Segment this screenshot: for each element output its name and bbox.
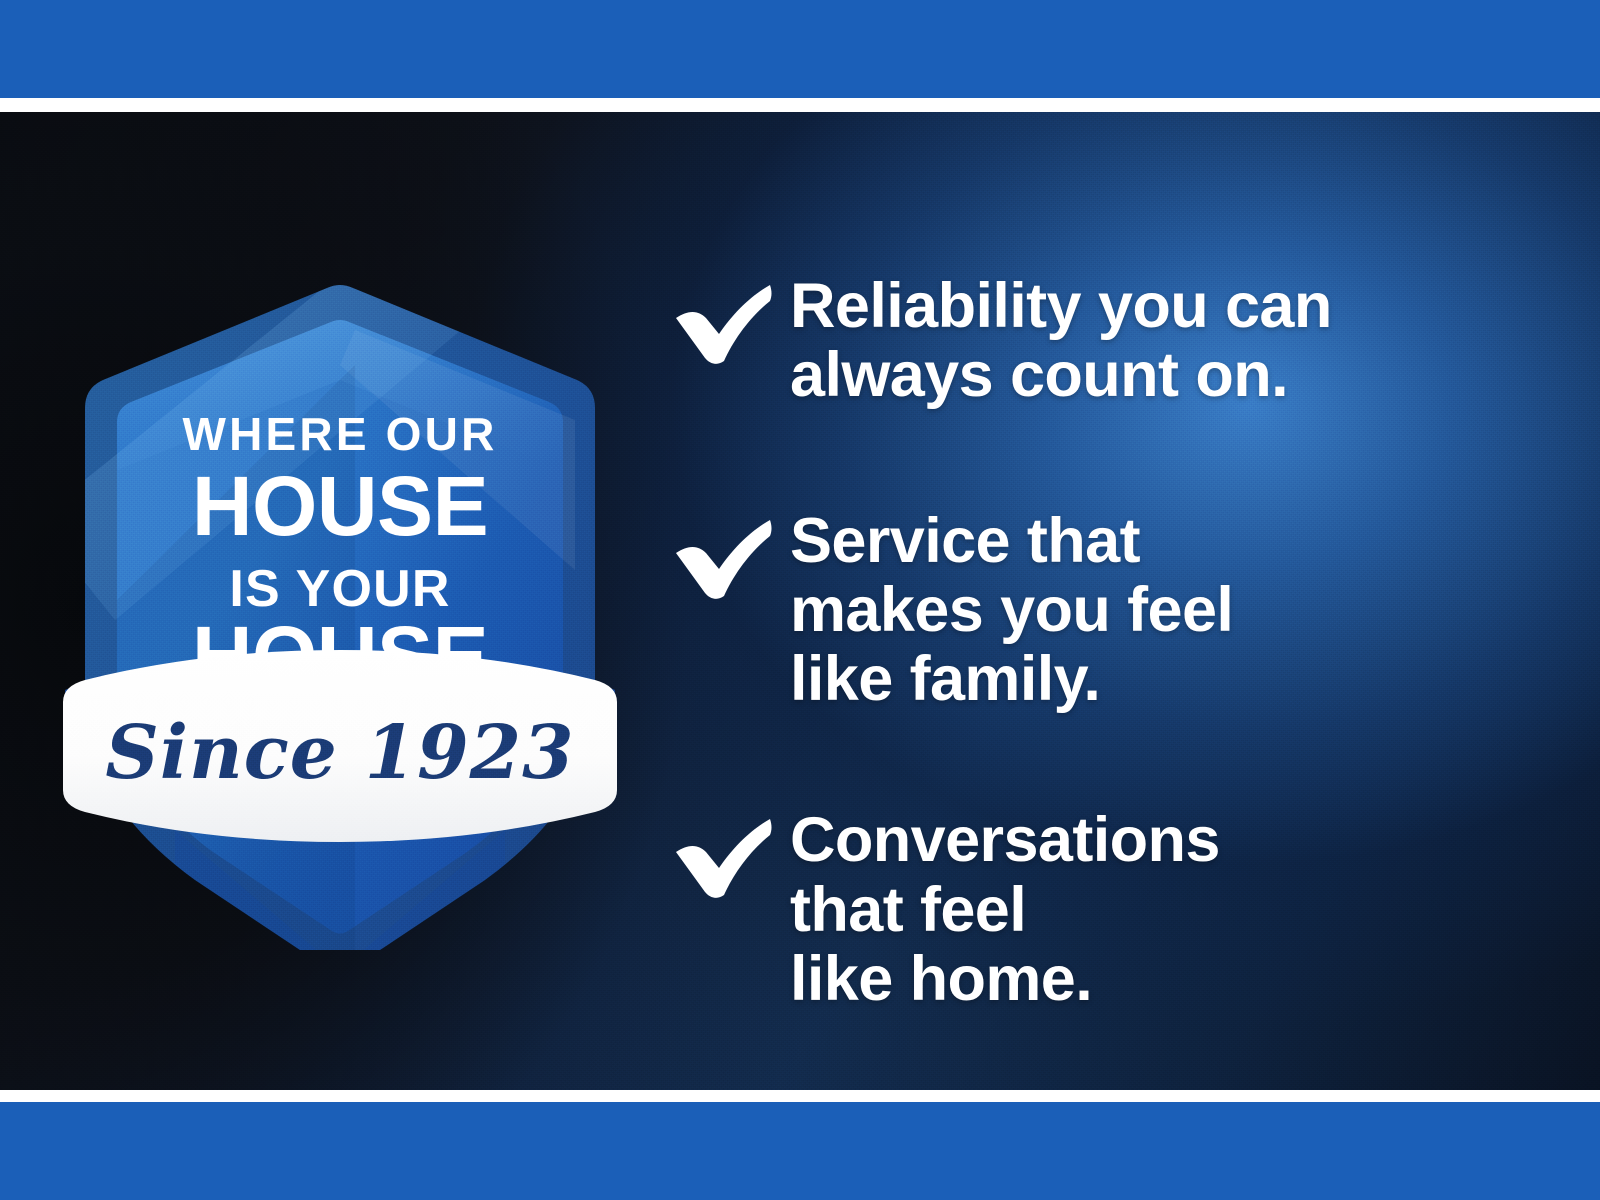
banner-text: Since 1923 (105, 710, 574, 796)
benefit-text: Reliability you can always count on. (790, 272, 1552, 411)
benefits-list: Reliability you can always count on. Ser… (672, 272, 1552, 1014)
bottom-brand-bar (0, 1102, 1600, 1200)
checkmark-icon (672, 272, 790, 368)
since-banner: Since 1923 (63, 650, 617, 842)
checkmark-icon (672, 507, 790, 603)
benefit-text: Service that makes you feel like family. (790, 507, 1552, 715)
shield-logo: WHERE OUR HOUSE IS YOUR HOUSE Since 1923 (55, 270, 625, 950)
benefit-item: Reliability you can always count on. (672, 272, 1552, 411)
top-brand-bar (0, 0, 1600, 98)
checkmark-icon (672, 806, 790, 902)
promo-graphic: WHERE OUR HOUSE IS YOUR HOUSE Since 1923 (0, 0, 1600, 1200)
benefit-text: Conversations that feel like home. (790, 806, 1552, 1014)
shield-line-1: WHERE OUR (182, 408, 497, 460)
benefit-item: Conversations that feel like home. (672, 806, 1552, 1014)
main-panel: WHERE OUR HOUSE IS YOUR HOUSE Since 1923 (0, 112, 1600, 1090)
benefit-item: Service that makes you feel like family. (672, 507, 1552, 715)
shield-line-2: HOUSE (192, 459, 488, 553)
